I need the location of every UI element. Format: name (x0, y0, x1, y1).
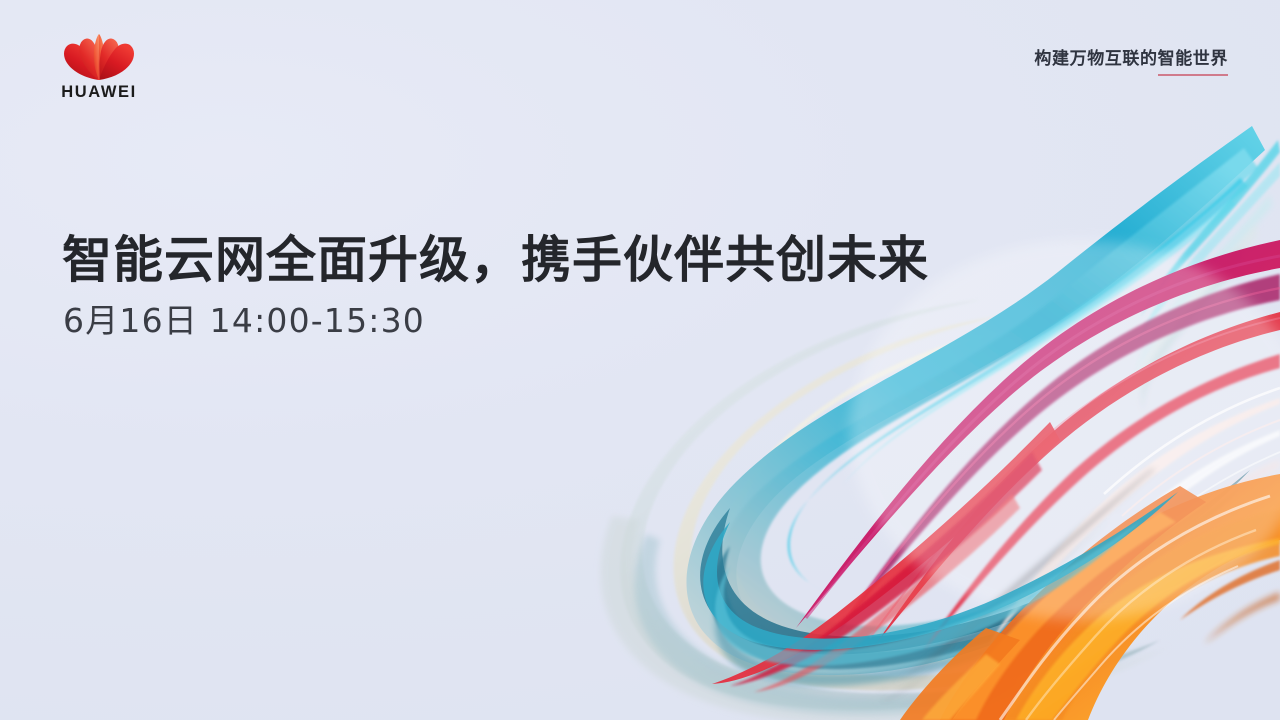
tagline-underlined-text: 智能世界 (1158, 49, 1228, 76)
ribbon-cyan-main (686, 126, 1265, 675)
ribbon-cyan-front-rim (703, 492, 1178, 666)
ribbon-orange-right-fan (1180, 560, 1280, 644)
ribbon-shadow-band (876, 468, 1156, 702)
brand-tagline: 构建万物互联的智能世界 (1034, 44, 1228, 69)
ribbon-cyan-feathers (1134, 140, 1280, 414)
ribbon-cyan-outer-shell (620, 300, 1160, 710)
artwork-glow (850, 240, 1280, 620)
abstract-ribbon-artwork (0, 0, 1280, 720)
ribbon-orange (900, 474, 1280, 720)
slide-canvas: HUAWEI 构建万物互联的智能世界 智能云网全面升级，携手伙伴共创未来 6月1… (0, 0, 1280, 720)
ribbon-magenta-crimson (796, 240, 1280, 650)
ribbon-teal-underside (700, 470, 1250, 686)
huawei-logo-block: HUAWEI (52, 30, 182, 110)
huawei-flower-logo (62, 30, 136, 82)
tagline-plain-text: 构建万物互联的 (1034, 49, 1157, 69)
event-datetime: 6月16日 14:00-15:30 (63, 302, 425, 340)
huawei-wordmark: HUAWEI (52, 84, 146, 101)
ribbon-white-highlight-fan (988, 388, 1280, 662)
page-title: 智能云网全面升级，携手伙伴共创未来 (62, 232, 929, 288)
ribbon-crimson-arm (712, 422, 1060, 692)
ribbon-cyan-lower-rim (601, 516, 1170, 720)
